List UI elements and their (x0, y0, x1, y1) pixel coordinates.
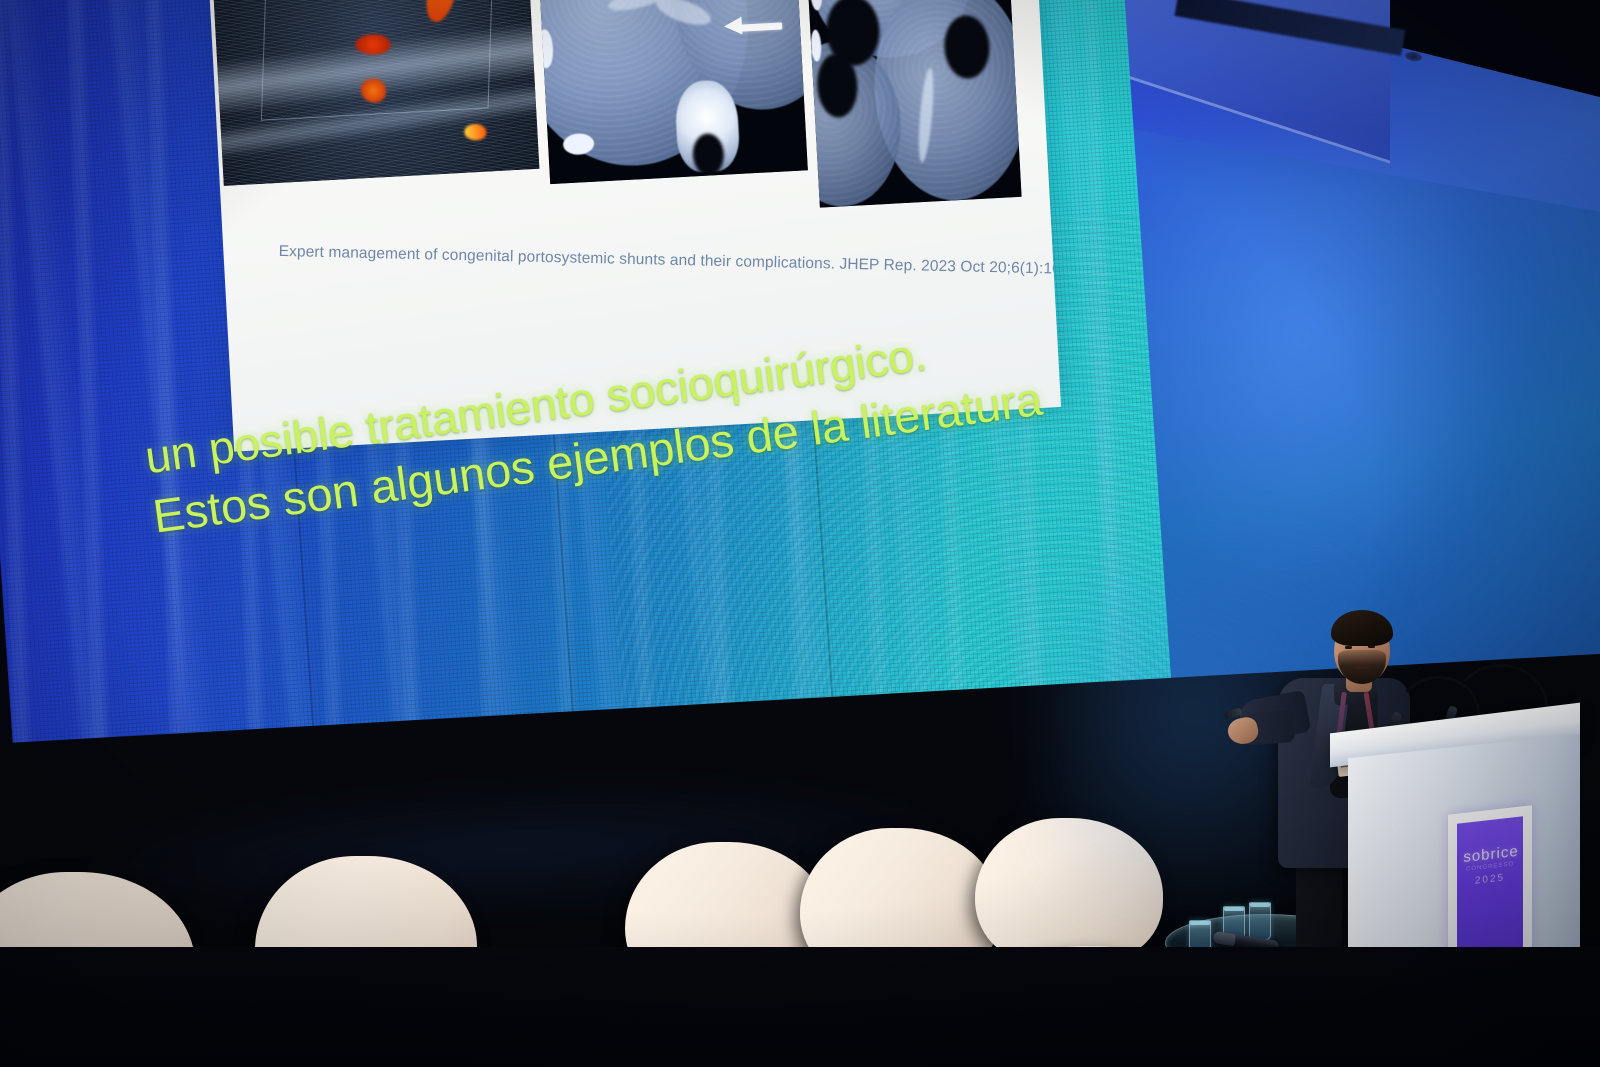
figure-ultrasound (202, 0, 539, 186)
brand-year: 2025 (1457, 870, 1523, 889)
conference-stage-photo: Expert management of congenital portosys… (0, 0, 1600, 1067)
presenter-mouth (1354, 664, 1369, 669)
stage-floor (0, 947, 1600, 1067)
figure-ct-liver (531, 0, 808, 184)
presenter-hair (1331, 610, 1393, 646)
figure-ct-abdomen (803, 0, 1022, 208)
presenter-eye (1345, 646, 1352, 649)
